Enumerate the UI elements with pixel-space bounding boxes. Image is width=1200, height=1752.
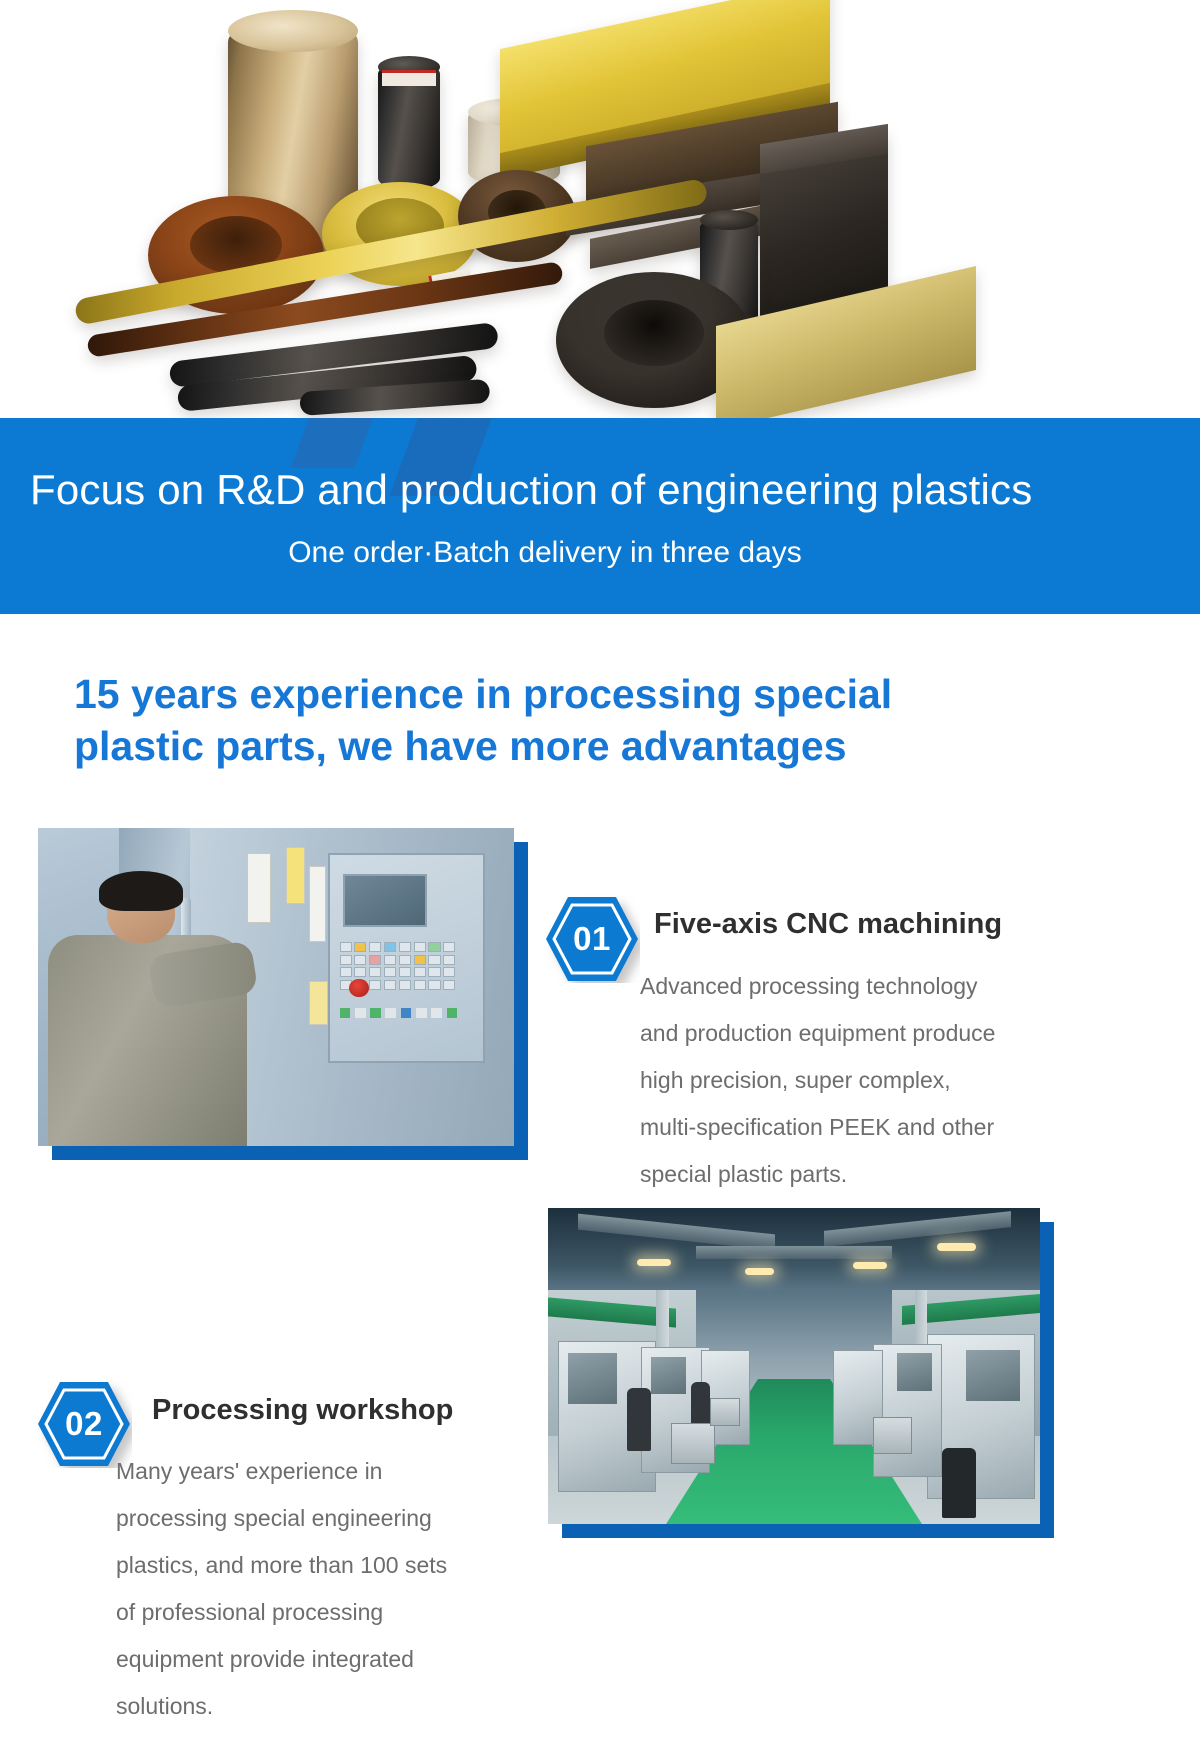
product-detail-page: Focus on R&D and production of engineeri… <box>0 0 1200 1752</box>
material-black-rod-label <box>382 70 436 86</box>
cnc-panel-screen <box>343 874 427 928</box>
blue-promo-banner: Focus on R&D and production of engineeri… <box>0 418 1200 614</box>
material-tan-rod-large-face <box>228 10 358 52</box>
workshop-machine-r2-panel <box>897 1353 931 1391</box>
feature-02-body-line-5: equipment provide integrated <box>116 1636 536 1683</box>
feature-01-title: Five-axis CNC machining <box>654 908 1002 941</box>
workshop-lamp-4 <box>937 1243 976 1251</box>
workshop-lamp-3 <box>853 1262 887 1270</box>
feature-02-body-line-4: of professional processing <box>116 1589 536 1636</box>
workshop-lamp-1 <box>637 1259 671 1267</box>
feature-02-body: Many years' experience in processing spe… <box>116 1448 536 1730</box>
material-black-ring-large-hole <box>604 300 704 366</box>
hero-product-photo <box>0 0 1200 420</box>
section-heading-line-2: plastic parts, we have more advantages <box>74 720 1084 772</box>
cnc-warning-sticker-1 <box>247 853 271 923</box>
workshop-duct-3 <box>696 1246 893 1259</box>
feature-01-photo <box>38 828 514 1146</box>
feature-02-photo-wrap <box>548 1208 1040 1524</box>
workshop-cart-2 <box>873 1417 912 1455</box>
feature-02-body-line-1: Many years' experience in <box>116 1448 536 1495</box>
cnc-operator <box>48 879 248 1146</box>
workshop-machine-l2-panel <box>651 1357 685 1395</box>
cnc-control-panel <box>328 853 485 1063</box>
workshop-machine-l1-panel <box>568 1353 617 1404</box>
workshop-worker-3 <box>942 1448 976 1518</box>
feature-01-number: 01 <box>544 895 640 983</box>
cnc-warning-sticker-2 <box>286 847 305 904</box>
feature-01-badge: 01 <box>544 895 640 983</box>
workshop-lamp-2 <box>745 1268 775 1275</box>
section-heading-line-1: 15 years experience in processing specia… <box>74 668 1084 720</box>
feature-01-body-line-5: special plastic parts. <box>640 1151 1090 1198</box>
feature-01-body: Advanced processing technology and produ… <box>640 963 1090 1198</box>
operator-hair <box>99 871 183 911</box>
feature-02-photo <box>548 1208 1040 1524</box>
feature-02-body-line-3: plastics, and more than 100 sets <box>116 1542 536 1589</box>
cnc-warning-sticker-4 <box>309 981 328 1026</box>
feature-01-body-line-3: high precision, super complex, <box>640 1057 1090 1104</box>
cnc-panel-indicator-strip <box>330 1008 483 1018</box>
banner-subtitle: One order·Batch delivery in three days <box>0 536 1090 570</box>
feature-02-body-line-2: processing special engineering <box>116 1495 536 1542</box>
banner-title: Focus on R&D and production of engineeri… <box>30 466 1170 514</box>
workshop-cart-1 <box>671 1423 715 1464</box>
feature-01-body-line-2: and production equipment produce <box>640 1010 1090 1057</box>
feature-01-body-line-1: Advanced processing technology <box>640 963 1090 1010</box>
material-black-round-rod-face <box>700 210 758 230</box>
hero-photo-stage <box>0 0 1200 420</box>
workshop-cart-3 <box>710 1398 740 1426</box>
workshop-worker-1 <box>627 1388 652 1451</box>
banner-accent-shape-left <box>291 418 374 468</box>
workshop-machine-r1-panel <box>966 1350 1020 1401</box>
feature-01-body-line-4: multi-specification PEEK and other <box>640 1104 1090 1151</box>
section-heading: 15 years experience in processing specia… <box>74 668 1084 772</box>
feature-02-title: Processing workshop <box>152 1394 453 1427</box>
cnc-emergency-stop-button <box>349 979 369 998</box>
feature-01-photo-wrap <box>38 828 514 1146</box>
feature-02-body-line-6: solutions. <box>116 1683 536 1730</box>
cnc-warning-sticker-3 <box>309 866 326 942</box>
